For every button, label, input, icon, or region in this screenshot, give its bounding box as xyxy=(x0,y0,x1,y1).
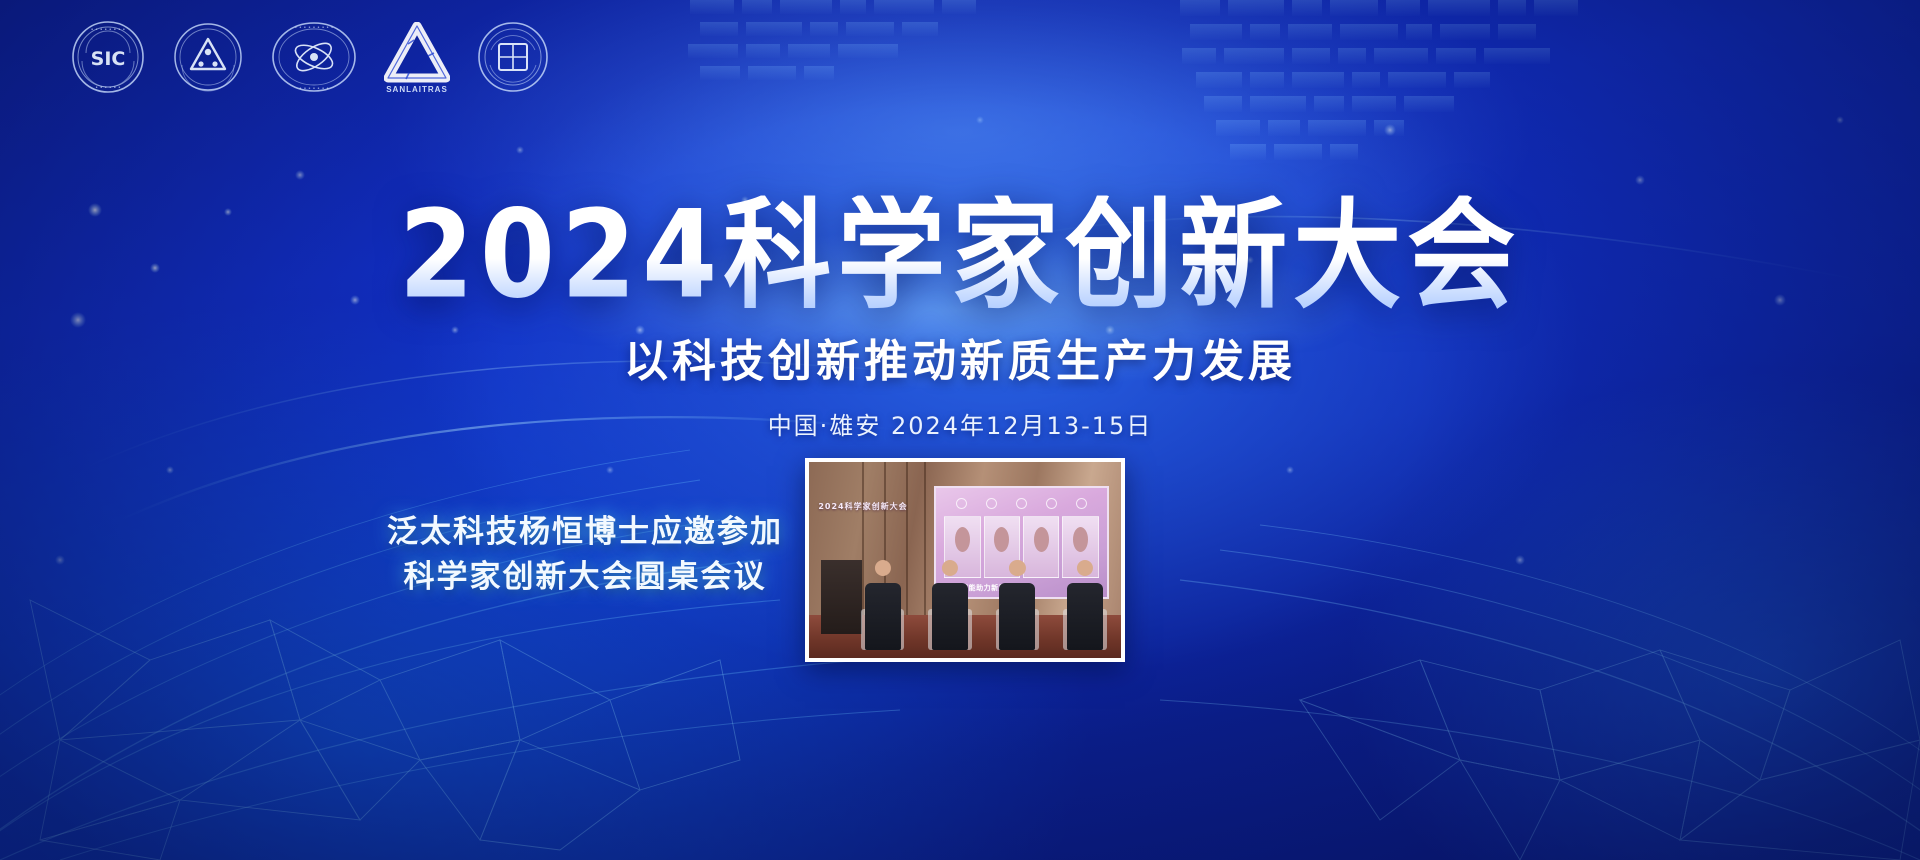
triangle-logo-caption: SANLAITRAS xyxy=(386,85,448,94)
panelist-head xyxy=(875,560,891,576)
panelist-body xyxy=(1067,583,1103,650)
svg-text:• • • • • • • •: • • • • • • • • xyxy=(91,27,126,33)
event-caption: 泛太科技杨恒博士应邀参加 科学家创新大会圆桌会议 xyxy=(380,510,790,600)
panelist-body xyxy=(865,583,901,650)
screen-dot-icon xyxy=(956,498,967,509)
caption-line-2: 科学家创新大会圆桌会议 xyxy=(380,555,790,600)
screen-dot-icon xyxy=(986,498,997,509)
seal-logo-sic: SIC • • • • • • • • • • • • • • xyxy=(70,19,146,96)
photo-screen-icon-row xyxy=(946,496,1097,511)
photo-podium xyxy=(821,560,862,634)
sponsor-logo-row: SIC • • • • • • • • • • • • • • xyxy=(70,18,550,97)
conference-banner: SIC • • • • • • • • • • • • • • xyxy=(0,0,1920,860)
sub-title: 以科技创新推动新质生产力发展 xyxy=(0,340,1920,384)
svg-text:• • • • • • • • •: • • • • • • • • • xyxy=(294,25,333,31)
panelist xyxy=(1061,560,1108,650)
panelist xyxy=(859,560,906,650)
triangle-logo-sanlaites: SANLAITRAS xyxy=(384,22,450,94)
panelist-head xyxy=(1077,560,1093,576)
seal-logo-circle-emblem xyxy=(476,20,550,95)
photo-panelists xyxy=(859,560,1109,650)
panelist-head xyxy=(942,560,958,576)
seal-logo-triangle-round xyxy=(172,21,244,94)
event-photo-content: 2024科学家创新大会 人工智能助力新质生产力 xyxy=(809,462,1121,658)
panelist xyxy=(994,560,1041,650)
screen-dot-icon xyxy=(1046,498,1057,509)
svg-text:• • • • • •: • • • • • • xyxy=(95,85,121,91)
date-location-line: 中国·雄安 2024年12月13-15日 xyxy=(0,414,1920,438)
panelist-body xyxy=(932,583,968,650)
photo-stage-banner-text: 2024科学家创新大会 xyxy=(818,501,907,512)
caption-line-1: 泛太科技杨恒博士应邀参加 xyxy=(380,510,790,555)
screen-dot-icon xyxy=(1076,498,1087,509)
main-title: 2024科学家创新大会 xyxy=(0,196,1920,317)
seal-logo-atom: • • • • • • • • • • • • • • • • xyxy=(270,18,358,97)
screen-dot-icon xyxy=(1016,498,1027,509)
panelist xyxy=(926,560,973,650)
event-photo: 2024科学家创新大会 人工智能助力新质生产力 xyxy=(805,458,1125,662)
panelist-body xyxy=(999,583,1035,650)
svg-text:• • • • • • •: • • • • • • • xyxy=(299,86,329,92)
panelist-head xyxy=(1009,560,1025,576)
svg-text:SIC: SIC xyxy=(91,48,126,70)
